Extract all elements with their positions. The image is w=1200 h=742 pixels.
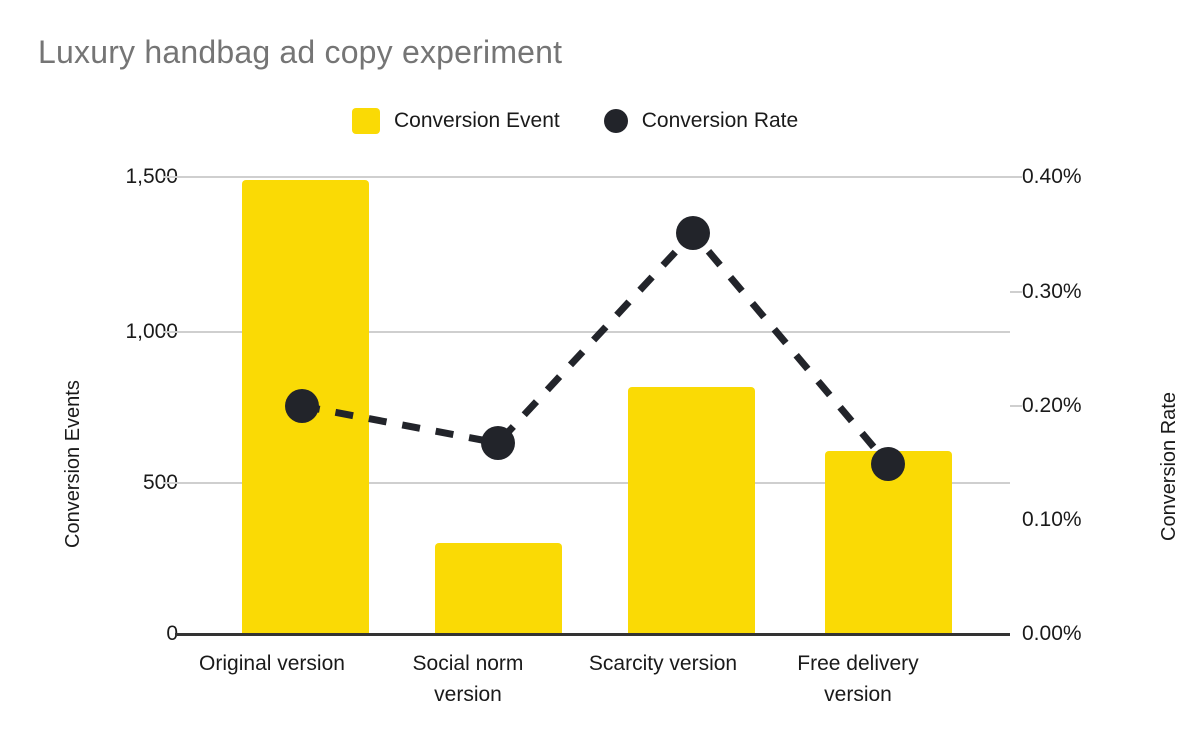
y-axis-title: Conversion Events — [62, 380, 85, 548]
conversion-rate-line-series — [175, 176, 1010, 634]
x-axis-label-social-norm-version: Social norm version — [378, 648, 558, 710]
category-line-2: version — [434, 683, 502, 706]
y2-axis-title: Conversion Rate — [1158, 392, 1181, 541]
y2-axis-tick-top — [1010, 176, 1022, 178]
legend-item-conversion-rate[interactable]: Conversion Rate — [604, 109, 798, 133]
legend-item-conversion-event[interactable]: Conversion Event — [352, 108, 560, 134]
chart-title: Luxury handbag ad copy experiment — [38, 34, 562, 71]
y-axis-tick-1500 — [163, 176, 175, 178]
y2-axis-tick-label: 0.10% — [1022, 508, 1082, 532]
y2-axis-tick-mid-upper — [1010, 291, 1022, 293]
chart-container: Luxury handbag ad copy experiment Conver… — [0, 0, 1200, 742]
data-point-marker-scarcity-version[interactable] — [676, 216, 710, 250]
category-line-2: version — [824, 683, 892, 706]
y2-axis-tick-label: 0.30% — [1022, 280, 1082, 304]
x-axis-label-original-version: Original version — [182, 648, 362, 679]
conversion-rate-dashed-line — [302, 233, 888, 464]
category-line-1: Free delivery — [797, 652, 918, 675]
circle-swatch-icon — [604, 109, 628, 133]
y-axis-tick-500 — [163, 482, 175, 484]
y-axis-tick-1000 — [163, 331, 175, 333]
y2-axis-tick-mid-lower — [1010, 405, 1022, 407]
category-line-1: Scarcity version — [589, 652, 737, 675]
data-point-marker-social-norm-version[interactable] — [481, 426, 515, 460]
legend-label: Conversion Rate — [642, 109, 798, 133]
category-line-1: Social norm — [413, 652, 524, 675]
y2-axis-tick-label: 0.00% — [1022, 622, 1082, 646]
x-axis-label-scarcity-version: Scarcity version — [573, 648, 753, 679]
category-line-1: Original version — [199, 652, 345, 675]
legend-label: Conversion Event — [394, 109, 560, 133]
y2-axis-tick-label: 0.40% — [1022, 165, 1082, 189]
data-point-marker-original-version[interactable] — [285, 389, 319, 423]
chart-legend: Conversion Event Conversion Rate — [352, 108, 798, 134]
plot-area — [175, 176, 1010, 634]
data-point-marker-free-delivery-version[interactable] — [871, 447, 905, 481]
y2-axis-tick-label: 0.20% — [1022, 394, 1082, 418]
x-axis-line — [175, 633, 1010, 636]
square-swatch-icon — [352, 108, 380, 134]
x-axis-label-free-delivery-version: Free delivery version — [768, 648, 948, 710]
